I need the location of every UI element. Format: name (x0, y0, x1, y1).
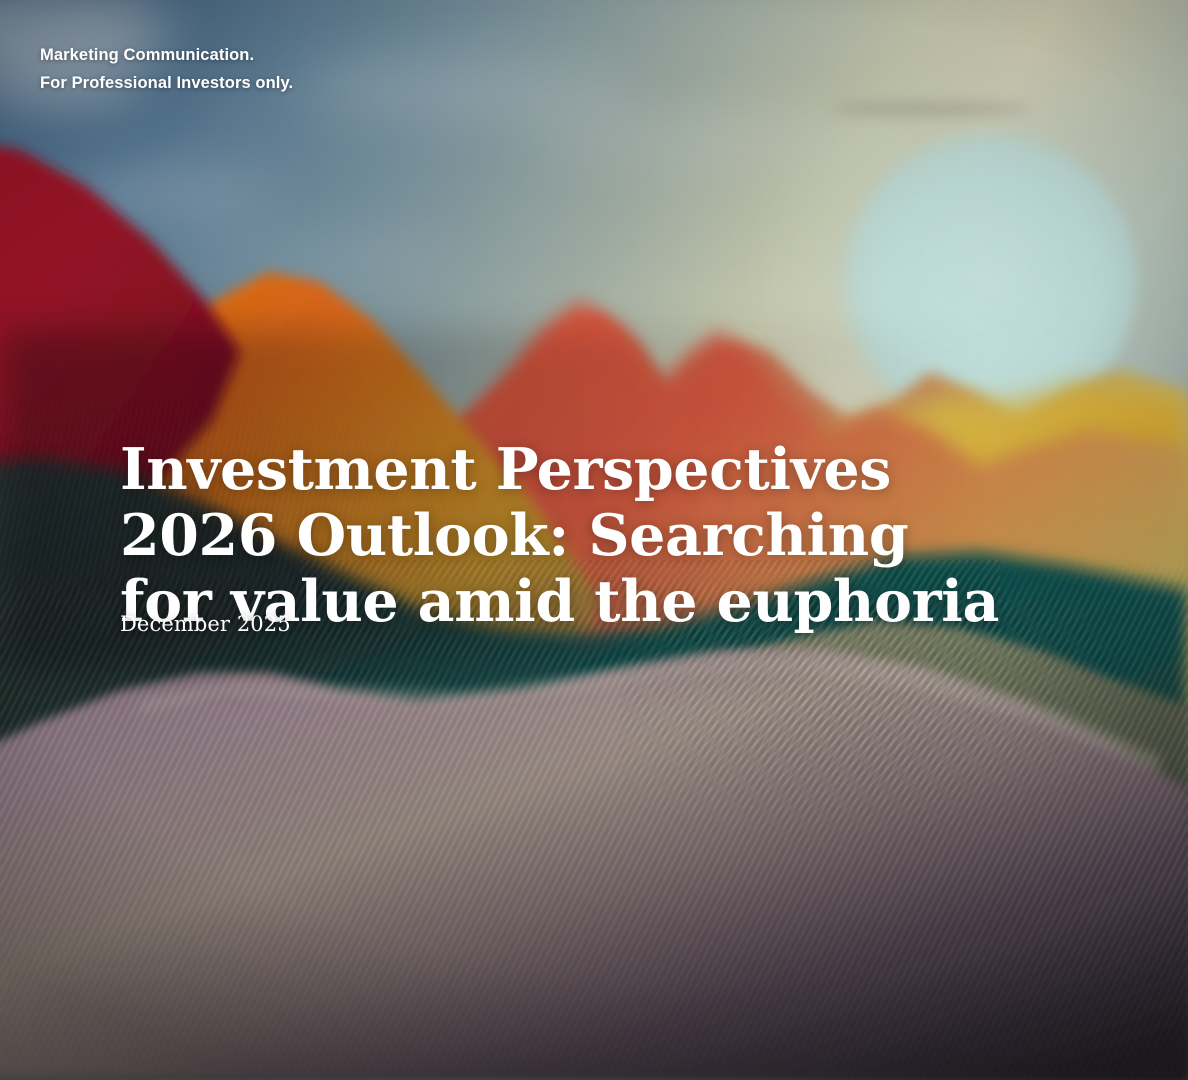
publication-date: December 2025 (120, 612, 291, 636)
cover-page: Marketing Communication. For Professiona… (0, 0, 1188, 1080)
marketing-disclaimer: Marketing Communication. For Professiona… (40, 41, 293, 97)
page-title: Investment Perspectives 2026 Outlook: Se… (120, 437, 999, 635)
